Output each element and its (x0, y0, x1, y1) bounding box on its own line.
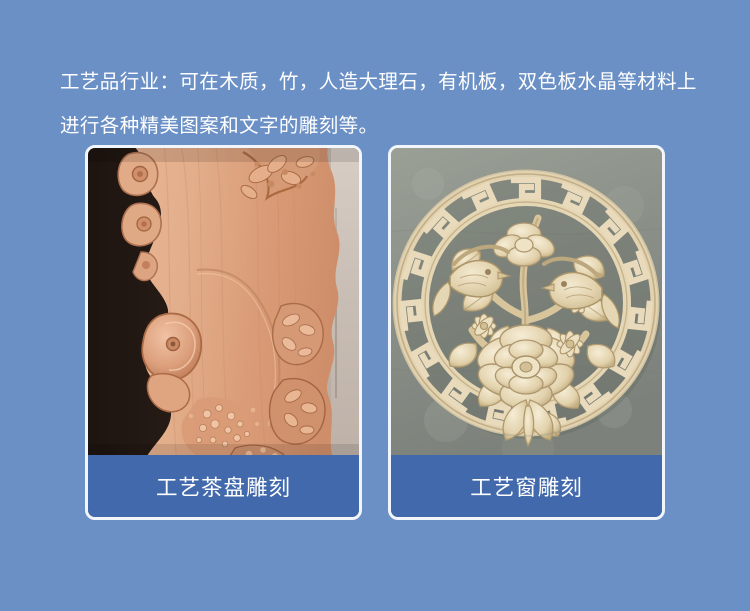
promo-page: 工艺品行业：可在木质，竹，人造大理石，有机板，双色板水晶等材料上进行各种精美图案… (0, 0, 750, 611)
card-caption-tea-tray: 工艺茶盘雕刻 (88, 455, 359, 517)
product-card-row: 工艺茶盘雕刻 (85, 145, 665, 520)
card-caption-window-carving: 工艺窗雕刻 (391, 455, 662, 517)
intro-paragraph: 工艺品行业：可在木质，竹，人造大理石，有机板，双色板水晶等材料上进行各种精美图案… (60, 60, 700, 148)
product-card-window-carving[interactable]: 工艺窗雕刻 (388, 145, 665, 520)
product-card-tea-tray[interactable]: 工艺茶盘雕刻 (85, 145, 362, 520)
tea-tray-photo (88, 148, 359, 458)
window-carving-photo (391, 148, 662, 458)
